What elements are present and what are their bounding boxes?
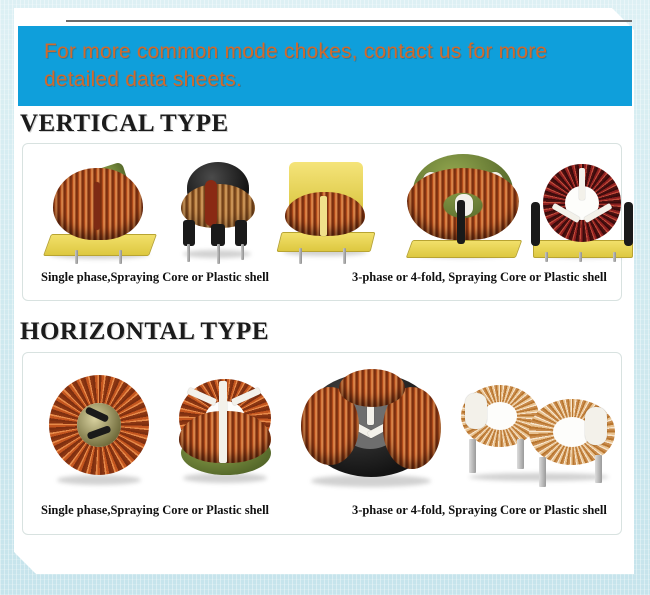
product-image-toroid-yellow-tape-on-pcb[interactable] [273, 156, 377, 266]
top-divider-line [66, 20, 632, 22]
caption-row-vertical: Single phase,Spraying Core or Plastic sh… [23, 270, 621, 285]
product-image-toroid-4fold-dark-red-on-pcb[interactable] [529, 158, 635, 266]
caption-vertical-three-phase: 3-phase or 4-fold, Spraying Core or Plas… [342, 270, 621, 285]
caption-horizontal-three-phase: 3-phase or 4-fold, Spraying Core or Plas… [342, 503, 621, 518]
product-gallery-vertical [23, 148, 621, 266]
promo-banner-text: For more common mode chokes, contact us … [44, 38, 609, 94]
caption-row-horizontal: Single phase,Spraying Core or Plastic sh… [23, 503, 621, 518]
product-image-toroid-copper-on-yellow-pcb[interactable] [41, 156, 159, 266]
product-gallery-horizontal [23, 359, 621, 501]
panel-horizontal-type: Single phase,Spraying Core or Plastic sh… [22, 352, 622, 535]
product-image-toroid-copper-white-separators[interactable] [173, 373, 277, 489]
caption-horizontal-single-phase: Single phase,Spraying Core or Plastic sh… [23, 503, 342, 518]
caption-vertical-single-phase: Single phase,Spraying Core or Plastic sh… [23, 270, 342, 285]
product-image-toroid-3phase-green-core[interactable] [399, 150, 527, 266]
section-title-vertical: VERTICAL TYPE [20, 110, 229, 138]
section-title-horizontal: HORIZONTAL TYPE [20, 318, 269, 346]
page-inner: For more common mode chokes, contact us … [18, 12, 634, 572]
promo-banner: For more common mode chokes, contact us … [18, 26, 632, 106]
product-image-toroid-black-core-with-pins[interactable] [175, 158, 261, 266]
product-image-toroid-3phase-black-core-y-separator[interactable] [295, 363, 447, 493]
product-image-toroid-pair-light-copper-legs[interactable] [455, 381, 625, 489]
panel-vertical-type: Single phase,Spraying Core or Plastic sh… [22, 143, 622, 301]
product-image-toroid-topdown-copper-windings[interactable] [45, 371, 153, 489]
